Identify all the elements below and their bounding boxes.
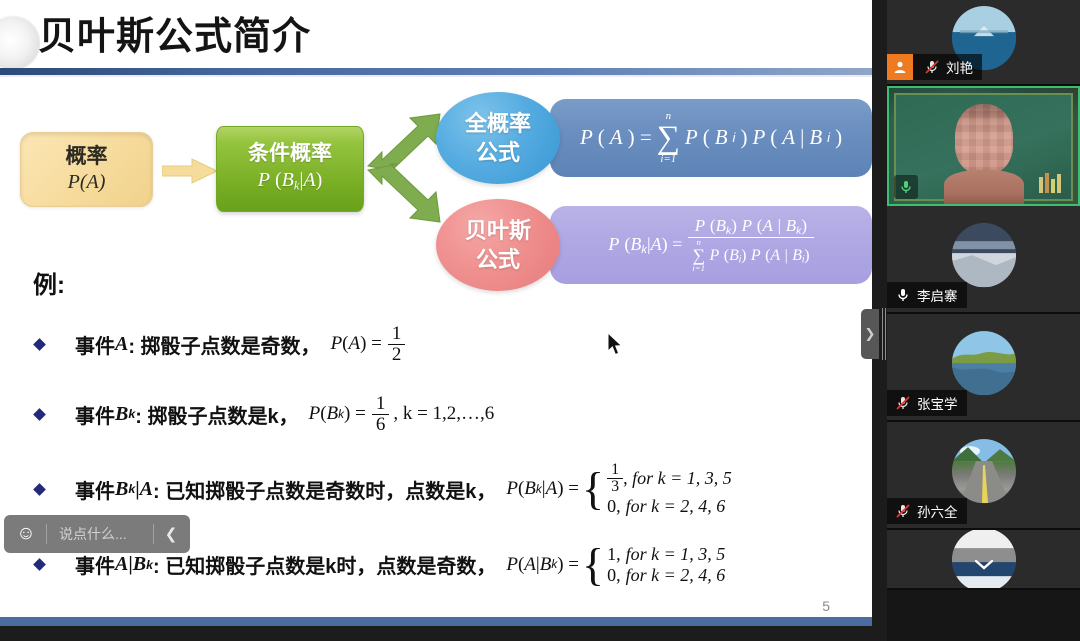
bayes-formula-ellipse: 贝叶斯 公式 [436, 199, 560, 291]
mic-muted-icon [920, 56, 944, 78]
bullet-abk-pre: 事件 [75, 550, 115, 579]
participant-face [955, 104, 1013, 174]
title-divider-bar [0, 68, 872, 75]
participant-nametag: 张宝学 [887, 390, 967, 416]
bullet-abk-post: : 已知掷骰子点数是k时，点数是奇数， [153, 550, 496, 579]
panel-collapse-handle[interactable]: ❯ [861, 309, 879, 359]
bullet-a-num: 1 [388, 324, 406, 343]
bullet-bka-text: 事件Bk | A: 已知掷骰子点数是奇数时，点数是k， [75, 475, 496, 504]
case-condition: for k = 1, 3, 5 [626, 544, 726, 565]
participant-body [944, 170, 1024, 204]
participant-sidebar[interactable]: 刘艳 [887, 0, 1080, 641]
case-row: 0, for k = 2, 4, 6 [607, 565, 725, 586]
smiley-icon[interactable]: ☺ [6, 515, 46, 553]
chat-input[interactable]: 说点什么... [47, 524, 153, 544]
participant-tile-5[interactable] [887, 530, 1080, 590]
participant-tile-4[interactable]: 孙六全 [887, 422, 1080, 530]
case-value: 1, [607, 544, 621, 565]
host-badge-icon [887, 54, 913, 80]
bullet-bk-tail: , k = 1,2,…,6 [393, 403, 494, 425]
bullet-abk-text: 事件A | Bk: 已知掷骰子点数是k时，点数是奇数， [75, 550, 496, 579]
participant-name: 张宝学 [917, 393, 958, 413]
bullet-event-a: 事件A: 掷骰子点数是奇数， P(A) = 1 2 [0, 322, 872, 366]
example-label: 例: [33, 265, 65, 300]
left-brace-icon: { [582, 471, 604, 507]
bayes-formula: P (Bk|A) = P (Bk) P (A | Bk) n∑i=1 P (Bi… [608, 217, 813, 273]
conditional-probability-box: 条件概率 P (Bk|A) [216, 126, 364, 212]
slide-decoration-circle [0, 16, 40, 70]
panel-resize-grip[interactable] [881, 305, 886, 363]
bayes-label-1: 贝叶斯 [465, 216, 531, 245]
bayes-formula-pill: P (Bk|A) = P (Bk) P (A | Bk) n∑i=1 P (Bi… [550, 206, 872, 284]
participant-tile-2[interactable]: 李启寨 [887, 206, 1080, 314]
case-den: 3 [607, 478, 623, 495]
participant-name: 孙六全 [917, 501, 958, 521]
case-value: 0, [607, 565, 621, 586]
bullet-bka-cases: { 1 3 , for k = 1, 3, 5 [582, 462, 732, 517]
probability-box: 概率 P(A) [20, 132, 153, 207]
lake-photo-icon [952, 331, 1016, 395]
participant-name: 刘艳 [946, 57, 973, 77]
mic-live-icon [894, 175, 918, 199]
participant-nametag: 李启寨 [887, 282, 967, 308]
bullet-bk-post: : 掷骰子点数是k， [135, 400, 298, 429]
example-bullet-list: 事件A: 掷骰子点数是奇数， P(A) = 1 2 事件Bk: 掷骰子点数是k， [0, 322, 872, 613]
case-row: 0, for k = 2, 4, 6 [607, 496, 732, 517]
case-value: 0, [607, 496, 621, 517]
bullet-a-den: 2 [388, 344, 406, 364]
self-video-feed [889, 88, 1078, 204]
participant-nametag: 刘艳 [887, 54, 982, 80]
conditional-box-formula: P (Bk|A) [258, 167, 323, 198]
bookshelf-icon [1039, 169, 1065, 193]
road-photo-icon [952, 439, 1016, 503]
bullet-bka-formula: P(Bk|A) = { 1 3 , for k = [506, 462, 731, 517]
probability-box-formula: P(A) [68, 170, 106, 195]
title-divider-shadow [0, 75, 872, 77]
avatar [952, 331, 1016, 395]
bayes-label-2: 公式 [476, 245, 520, 274]
mic-muted-icon [891, 500, 915, 522]
bayes-fraction: P (Bk) P (A | Bk) n∑i=1 P (Bi) P (A | Bi… [688, 217, 813, 273]
chevron-right-icon: ❯ [865, 326, 876, 342]
bullet-bk-pre: 事件 [75, 400, 115, 429]
case-condition: for k = 2, 4, 6 [626, 565, 726, 586]
bullet-event-a-text: 事件A: 掷骰子点数是奇数， [75, 330, 321, 359]
bullet-bk-text: 事件Bk: 掷骰子点数是k， [75, 400, 299, 429]
bullet-a-pre: 事件 [75, 330, 115, 359]
bullet-event-bk-given-a: 事件Bk | A: 已知掷骰子点数是奇数时，点数是k， P(Bk|A) = { … [0, 462, 872, 517]
shared-screen-stage: 贝叶斯公式简介 概率 P(A) 条件概率 P (Bk|A) [0, 0, 887, 641]
meeting-window: 贝叶斯公式简介 概率 P(A) 条件概率 P (Bk|A) [0, 0, 1080, 641]
bullet-a-post: : 掷骰子点数是奇数， [128, 330, 320, 359]
total-probability-formula: P(A) = n∑i=1 P (Bi) P (A | Bi) [580, 111, 842, 165]
avatar [952, 223, 1016, 287]
bullet-bk-formula: P(Bk) = 1 6 , k = 1,2,…,6 [309, 394, 495, 434]
yellow-arrow-icon [162, 158, 218, 184]
bayes-flow-diagram: 概率 P(A) 条件概率 P (Bk|A) 全概率 [0, 86, 872, 301]
participant-nametag: 孙六全 [887, 498, 967, 524]
bullet-bk-num: 1 [372, 394, 390, 413]
case-num: 1 [607, 462, 623, 478]
case-condition: for k = 2, 4, 6 [626, 496, 726, 517]
bullet-a-formula: P(A) = 1 2 [331, 324, 406, 364]
slide-page-number: 5 [822, 598, 830, 614]
total-probability-label-1: 全概率 [465, 109, 531, 138]
avatar [952, 439, 1016, 503]
bullet-bk-den: 6 [372, 414, 390, 434]
participant-tile-0[interactable]: 刘艳 [887, 0, 1080, 86]
total-probability-label-2: 公式 [476, 138, 520, 167]
bullet-bka-post: : 已知掷骰子点数是奇数时，点数是k， [153, 475, 496, 504]
total-probability-formula-pill: P(A) = n∑i=1 P (Bi) P (A | Bi) [550, 99, 872, 177]
total-probability-ellipse: 全概率 公式 [436, 92, 560, 184]
summation-symbol: n∑i=1 [657, 111, 680, 165]
bullet-abk-formula: P(A | Bk) = { 1, for k = 1, 3, 5 [506, 544, 725, 586]
bullet-bka-pre: 事件 [75, 475, 115, 504]
slide-title: 贝叶斯公式简介 [38, 8, 311, 66]
case-row: 1, for k = 1, 3, 5 [607, 544, 725, 565]
chat-input-bar[interactable]: ☺ 说点什么... ❮ [4, 515, 190, 553]
participant-tile-3[interactable]: 张宝学 [887, 314, 1080, 422]
mic-unmuted-icon [891, 284, 915, 306]
mic-muted-icon [891, 392, 915, 414]
left-brace-icon: { [582, 547, 604, 583]
participant-name: 李启寨 [917, 285, 958, 305]
slide-bottom-bar [0, 617, 872, 626]
storm-photo-icon [952, 223, 1016, 287]
participant-tile-1[interactable] [887, 86, 1080, 206]
bullet-event-bk: 事件Bk: 掷骰子点数是k， P(Bk) = 1 6 , k = 1,2,…,6 [0, 392, 872, 436]
chevron-left-icon[interactable]: ❮ [154, 515, 188, 553]
case-row: 1 3 , for k = 1, 3, 5 [607, 462, 732, 496]
bullet-abk-cases: { 1, for k = 1, 3, 5 0, [582, 544, 725, 586]
case-condition: for k = 1, 3, 5 [632, 468, 732, 489]
probability-box-title: 概率 [66, 144, 108, 170]
chevron-down-icon[interactable] [974, 558, 994, 576]
conditional-box-title: 条件概率 [248, 140, 332, 167]
